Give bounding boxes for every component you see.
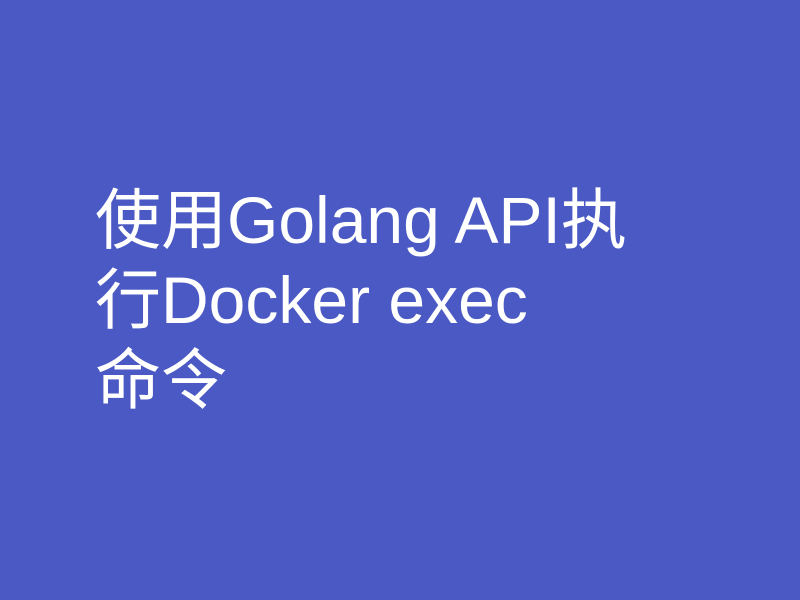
title-card: 使用Golang API执 行Docker exec 命令 bbox=[0, 0, 800, 600]
page-title: 使用Golang API执 行Docker exec 命令 bbox=[95, 180, 627, 420]
